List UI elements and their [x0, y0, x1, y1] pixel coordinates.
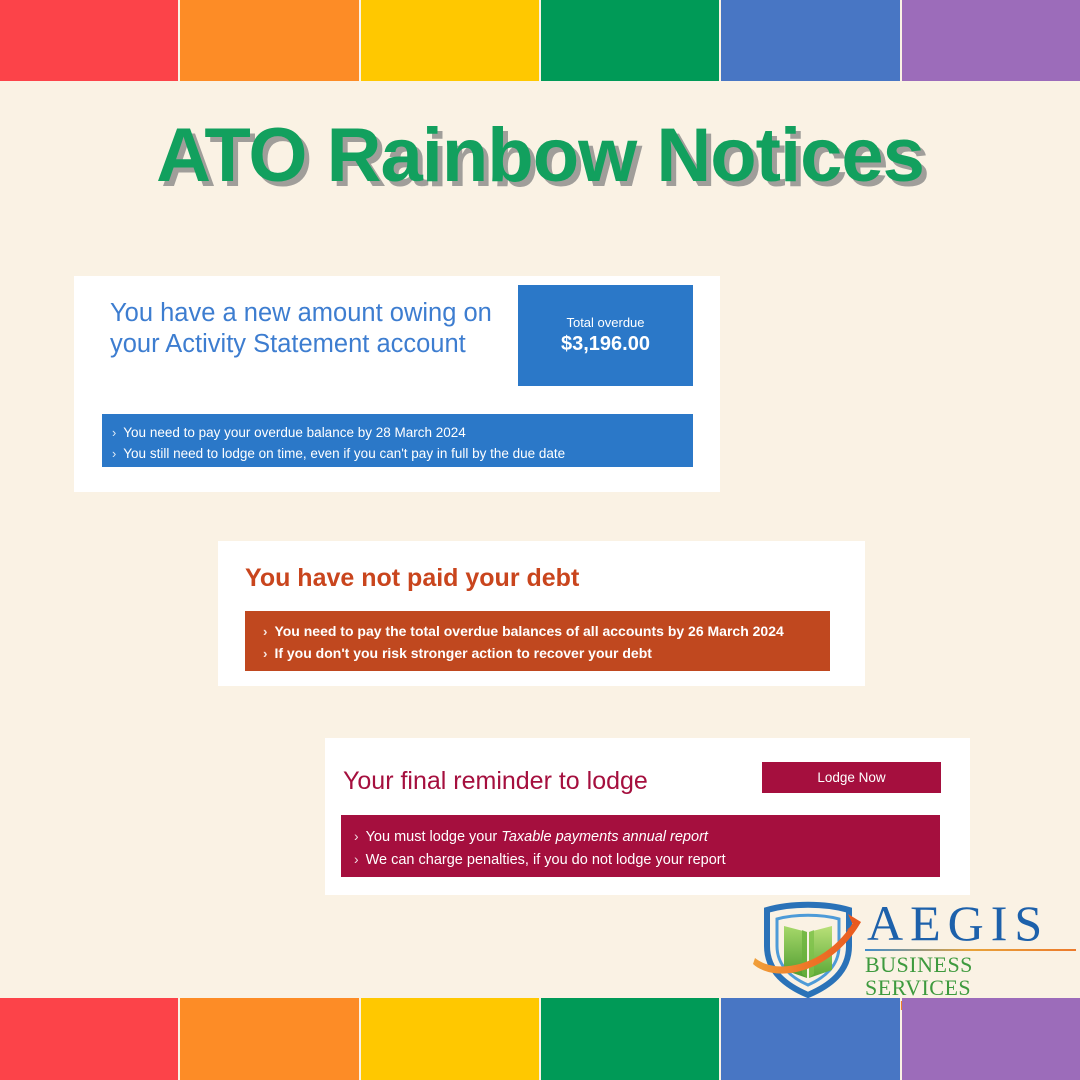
bullet-text-emphasis: Taxable payments annual report	[501, 829, 708, 845]
chevron-right-icon: ›	[354, 826, 359, 848]
notice-bullet-bar: › You need to pay your overdue balance b…	[102, 414, 693, 467]
bullet-text: You need to pay your overdue balance by …	[123, 422, 466, 443]
chevron-right-icon: ›	[112, 423, 116, 443]
unpaid-debt-notice-card: You have not paid your debt › You need t…	[218, 541, 865, 686]
bottom-rainbow-stripes	[0, 998, 1080, 1080]
red-stripe	[0, 0, 178, 81]
green-stripe	[541, 0, 719, 81]
total-overdue-value: $3,196.00	[561, 333, 650, 356]
aegis-logo: AEGIS BUSINESS SERVICES knowledge | supp…	[753, 898, 1080, 1002]
activity-statement-notice-card: You have a new amount owing on your Acti…	[74, 276, 720, 492]
orange-stripe	[180, 998, 358, 1080]
chevron-right-icon: ›	[263, 644, 267, 665]
final-lodge-reminder-notice-card: Your final reminder to lodge Lodge Now ›…	[325, 738, 970, 895]
bullet-text: You still need to lodge on time, even if…	[123, 443, 565, 464]
orange-stripe	[180, 0, 358, 81]
bullet-text-prefix: You must lodge your	[366, 829, 502, 845]
bullet-item: › You need to pay your overdue balance b…	[112, 422, 693, 443]
green-stripe	[541, 998, 719, 1080]
aegis-wordmark: AEGIS BUSINESS SERVICES knowledge | supp…	[865, 898, 1080, 1013]
bullet-text: If you don't you risk stronger action to…	[274, 643, 652, 665]
chevron-right-icon: ›	[354, 849, 359, 871]
page-title: ATO Rainbow Notices	[0, 112, 1080, 199]
aegis-subtitle: BUSINESS SERVICES	[865, 953, 1080, 999]
aegis-name: AEGIS	[867, 898, 1080, 948]
bullet-item: › You must lodge your Taxable payments a…	[354, 826, 940, 849]
notice-bullet-bar: › You must lodge your Taxable payments a…	[341, 815, 940, 877]
notice-title: You have not paid your debt	[245, 563, 579, 594]
yellow-stripe	[361, 998, 539, 1080]
lodge-now-button[interactable]: Lodge Now	[762, 762, 941, 793]
notice-title: You have a new amount owing on your Acti…	[110, 298, 530, 360]
bullet-item: › You still need to lodge on time, even …	[112, 443, 693, 464]
chevron-right-icon: ›	[263, 622, 267, 643]
yellow-stripe	[361, 0, 539, 81]
bullet-item: › If you don't you risk stronger action …	[263, 643, 830, 665]
blue-stripe	[721, 998, 899, 1080]
chevron-right-icon: ›	[112, 444, 116, 464]
purple-stripe	[902, 998, 1080, 1080]
total-overdue-box: Total overdue $3,196.00	[518, 285, 693, 386]
bullet-text: You must lodge your Taxable payments ann…	[366, 826, 708, 849]
shield-book-icon	[753, 900, 871, 998]
bullet-text: We can charge penalties, if you do not l…	[366, 849, 726, 872]
top-rainbow-stripes	[0, 0, 1080, 81]
blue-stripe	[721, 0, 899, 81]
total-overdue-label: Total overdue	[566, 315, 644, 330]
notice-bullet-bar: › You need to pay the total overdue bala…	[245, 611, 830, 671]
red-stripe	[0, 998, 178, 1080]
bullet-item: › You need to pay the total overdue bala…	[263, 621, 830, 643]
bullet-item: › We can charge penalties, if you do not…	[354, 849, 940, 872]
bullet-text: You need to pay the total overdue balanc…	[274, 621, 783, 643]
notice-title: Your final reminder to lodge	[343, 766, 648, 797]
purple-stripe	[902, 0, 1080, 81]
